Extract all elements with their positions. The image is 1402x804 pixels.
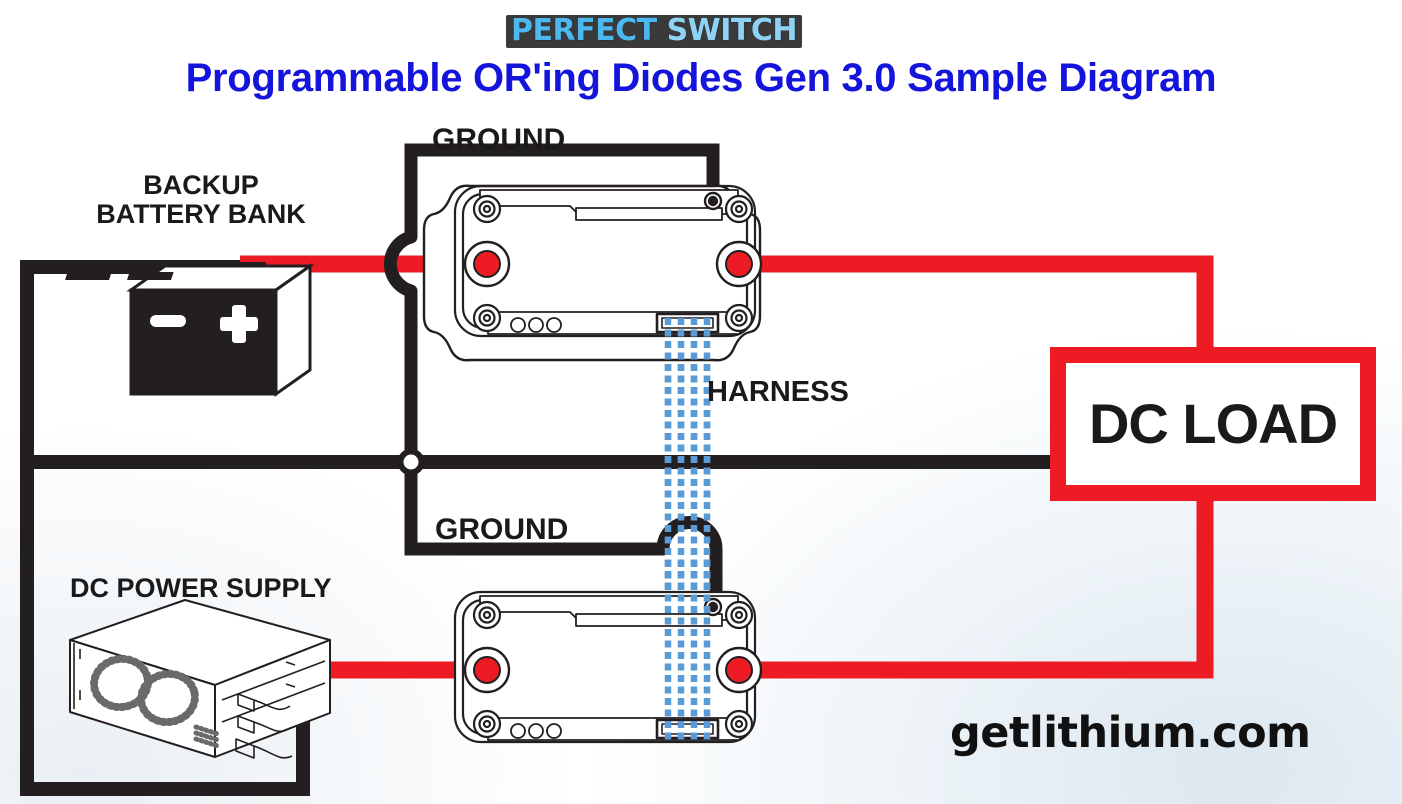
label-backup-line1: BACKUP [76, 171, 326, 200]
indicator-leds-bottom [511, 724, 561, 738]
website-watermark: getlithium.com [950, 708, 1310, 758]
dc-power-supply-graphic [70, 600, 330, 758]
diagram-canvas: PERFECT SWITCH Programmable OR'ing Diode… [0, 0, 1402, 804]
label-harness: HARNESS [707, 377, 849, 408]
label-dc-power-supply: DC POWER SUPPLY [70, 574, 332, 603]
logo-word-switch: SWITCH [667, 16, 797, 46]
label-ground-bottom: GROUND [435, 514, 568, 546]
page-title: Programmable OR'ing Diodes Gen 3.0 Sampl… [0, 56, 1402, 101]
label-ground-top: GROUND [432, 124, 565, 156]
ground-junction-node [398, 449, 425, 476]
ground-terminal-top [705, 193, 721, 209]
oring-diode-top-graphic [424, 186, 761, 361]
indicator-leds-top [511, 318, 561, 332]
perfect-switch-logo: PERFECT SWITCH [506, 15, 802, 48]
logo-word-perfect: PERFECT [511, 16, 657, 46]
label-backup-line2: BATTERY BANK [76, 200, 326, 229]
oring-diode-bottom-graphic [455, 592, 761, 742]
backup-battery-graphic [65, 262, 310, 394]
label-backup-battery-bank: BACKUP BATTERY BANK [76, 171, 326, 229]
label-dc-load: DC LOAD [1058, 355, 1368, 493]
